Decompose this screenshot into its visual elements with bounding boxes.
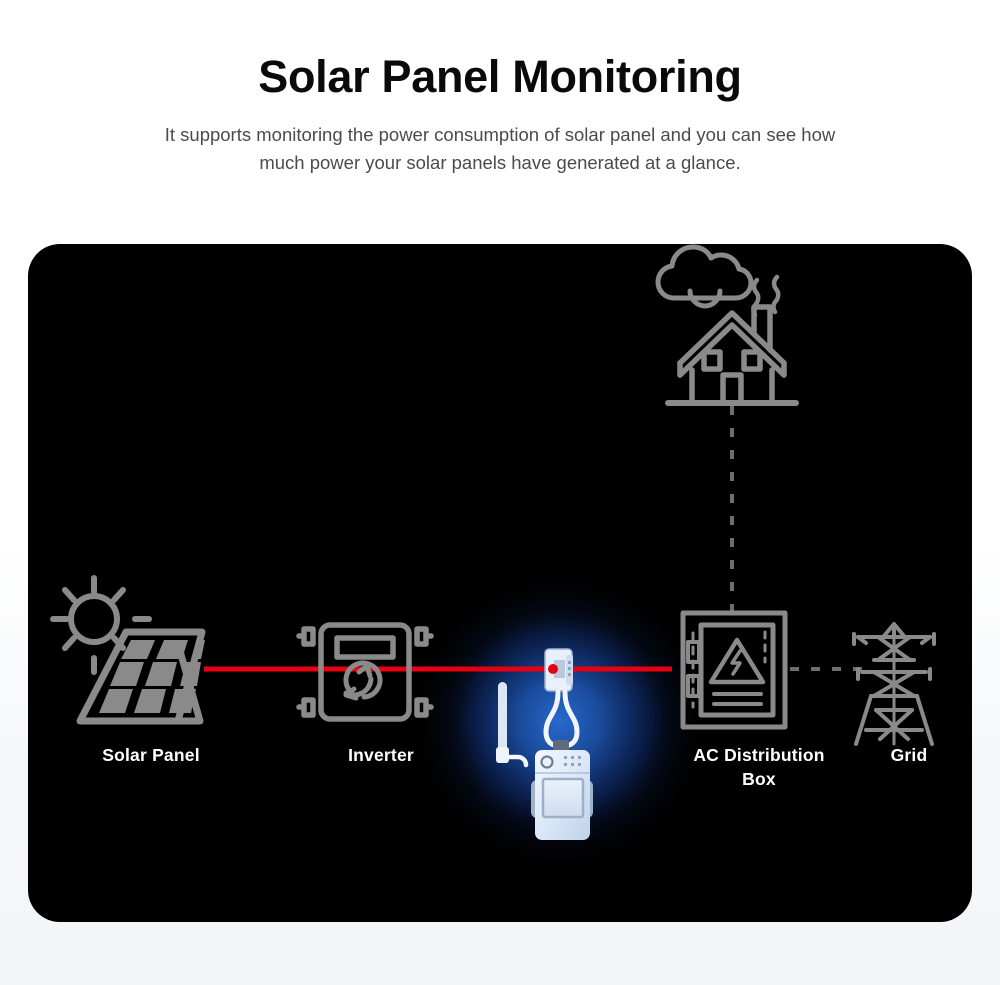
ct-clamp-sensor-icon <box>545 649 573 691</box>
inverter-icon <box>299 625 431 719</box>
house-icon <box>668 307 796 403</box>
diagram-canvas <box>28 244 972 922</box>
node-label-grid: Grid <box>834 744 972 768</box>
page-title: Solar Panel Monitoring <box>0 0 1000 102</box>
power-pylon-icon <box>854 624 934 744</box>
solar-panel-icon <box>53 578 205 721</box>
solar-monitoring-diagram-card: Solar Panel Inverter AC Distribution Box… <box>28 244 972 922</box>
page-subtitle: It supports monitoring the power consump… <box>145 102 855 177</box>
node-label-solar-panel: Solar Panel <box>44 744 258 768</box>
node-label-inverter: Inverter <box>276 744 486 768</box>
diagram-stage: Solar Panel Inverter AC Distribution Box… <box>28 244 972 922</box>
page-header: Solar Panel Monitoring It supports monit… <box>0 0 1000 177</box>
page-root: Solar Panel Monitoring It supports monit… <box>0 0 1000 985</box>
cloud-icon <box>658 247 751 306</box>
